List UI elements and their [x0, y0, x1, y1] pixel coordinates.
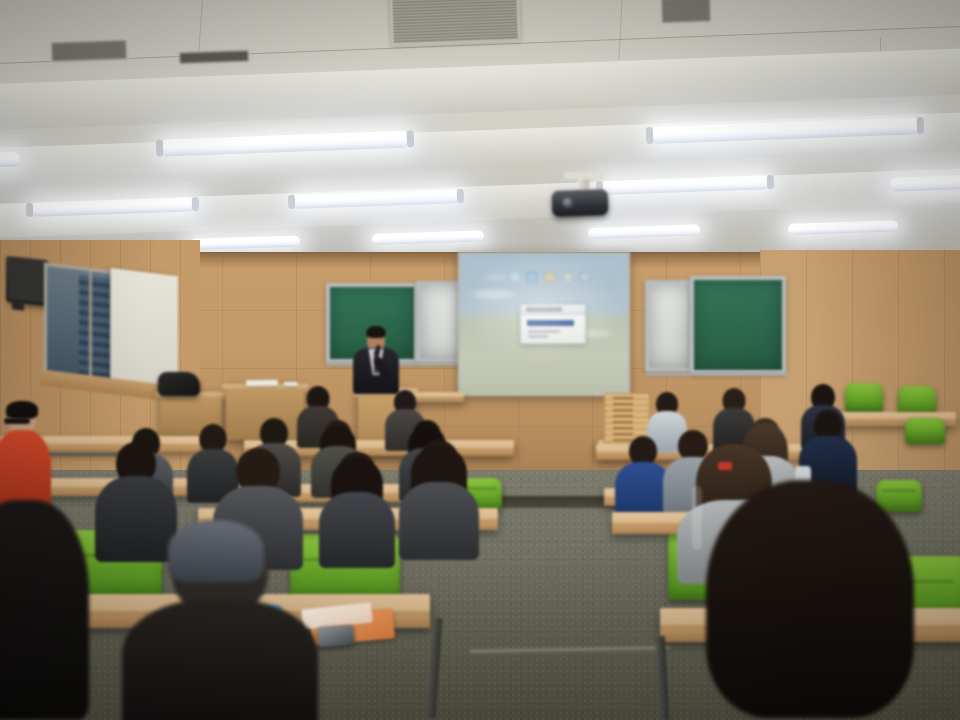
fluorescent-tube-light: [292, 189, 460, 209]
student: [318, 452, 396, 562]
fluorescent-tube-light: [30, 197, 195, 217]
lecturer: [350, 326, 402, 396]
lecturer-hair: [367, 326, 386, 338]
spare-chair[interactable]: [905, 418, 945, 444]
projection-screen: [458, 252, 630, 396]
projector-ceiling-plate: [564, 172, 604, 179]
fluorescent-tube-light: [588, 224, 700, 239]
bag-on-desk: [158, 372, 200, 396]
fluorescent-tube-light: [650, 117, 920, 144]
ceiling-projector-icon: [552, 189, 609, 217]
chalkboard-right: [690, 276, 786, 374]
pizza-box-stack: [604, 393, 650, 441]
chalk-tray: [645, 372, 790, 376]
student-long-hair-right: [700, 480, 920, 720]
fluorescent-tube-light: [0, 151, 20, 167]
fluorescent-tube-light: [372, 230, 484, 245]
student: [398, 440, 480, 556]
student: [0, 500, 90, 720]
fluorescent-tube-light: [788, 220, 898, 234]
smartphone[interactable]: [317, 625, 354, 647]
lecture-hall-photo: [0, 0, 960, 720]
hoodie-logo-patch: [718, 462, 732, 470]
fluorescent-tube-light: [190, 235, 300, 249]
aisle-step: [498, 496, 618, 508]
spare-chair[interactable]: [845, 383, 883, 413]
light-row-group: [0, 0, 960, 258]
eyeglasses-icon: [4, 418, 30, 424]
whiteboard-sliding-right: [645, 280, 693, 372]
papers-on-desk: [246, 380, 278, 387]
wall-speaker-icon: [6, 256, 48, 306]
fluorescent-tube-light: [890, 174, 960, 191]
fluorescent-tube-light: [160, 130, 410, 156]
gray-beanie-hat: [168, 520, 264, 582]
fluorescent-tube-light: [600, 175, 770, 195]
